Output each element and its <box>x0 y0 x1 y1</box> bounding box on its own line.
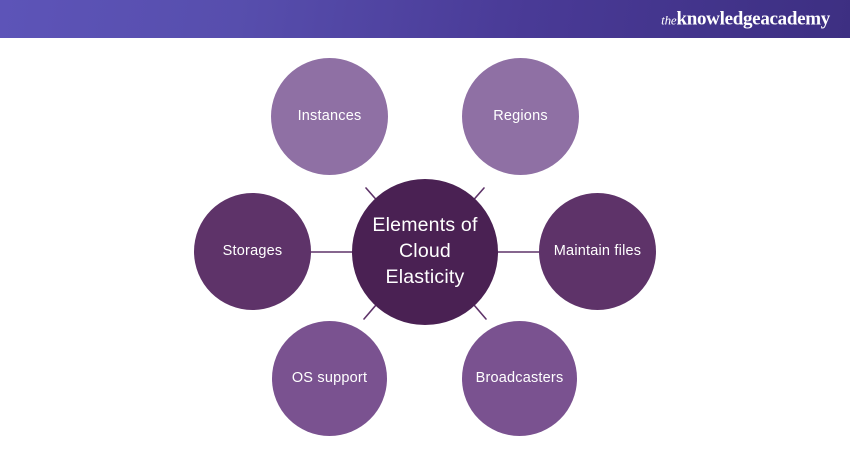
node-label-storages: Storages <box>215 242 291 260</box>
diagram-node-maintain-files[interactable]: Maintain files <box>539 193 656 310</box>
node-label-broadcasters: Broadcasters <box>468 369 572 387</box>
logo-knowledge-text: knowledge <box>676 9 760 30</box>
node-label-center: Elements of Cloud Elasticity <box>364 213 485 290</box>
center-line-1: Elements of <box>372 214 477 236</box>
diagram-node-instances[interactable]: Instances <box>271 58 388 175</box>
node-label-maintain-files: Maintain files <box>546 242 649 260</box>
logo-prefix-text: the <box>661 13 676 28</box>
header-banner: theknowledgeacademy <box>0 0 850 38</box>
center-line-3: Elasticity <box>386 266 465 288</box>
node-label-instances: Instances <box>290 107 370 125</box>
diagram-node-storages[interactable]: Storages <box>194 193 311 310</box>
node-label-regions: Regions <box>485 107 556 125</box>
diagram-node-os-support[interactable]: OS support <box>272 321 387 436</box>
diagram-node-regions[interactable]: Regions <box>462 58 579 175</box>
logo-academy-text: academy <box>760 9 830 30</box>
brand-logo: theknowledgeacademy <box>661 10 830 29</box>
hub-and-spoke-diagram: Instances Regions Storages Maintain file… <box>0 38 850 450</box>
diagram-center-hub[interactable]: Elements of Cloud Elasticity <box>352 179 498 325</box>
diagram-node-broadcasters[interactable]: Broadcasters <box>462 321 577 436</box>
node-label-os-support: OS support <box>284 369 375 387</box>
center-line-2: Cloud <box>399 240 451 262</box>
infographic-canvas: theknowledgeacademy Instances Regions St <box>0 0 850 450</box>
